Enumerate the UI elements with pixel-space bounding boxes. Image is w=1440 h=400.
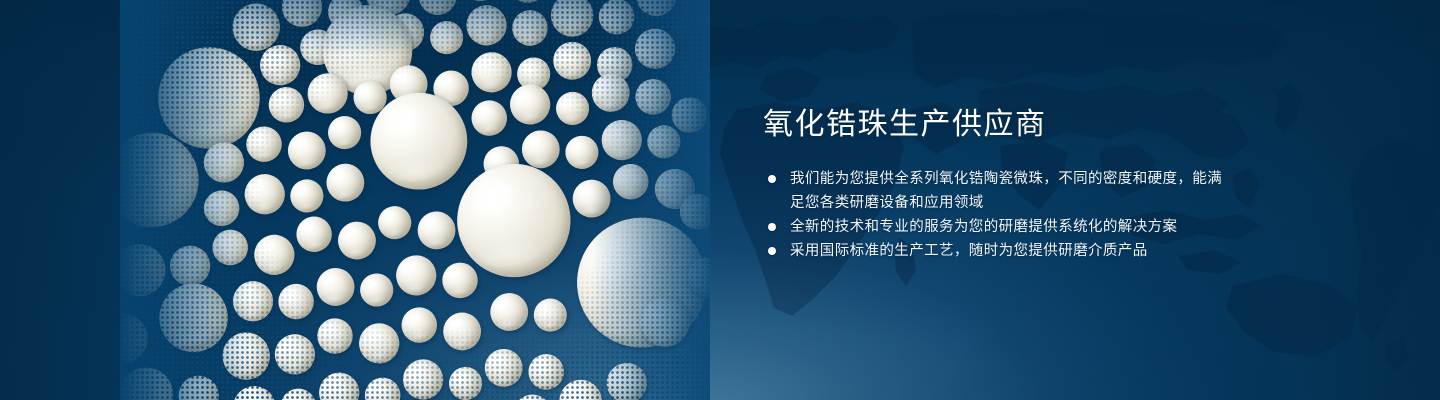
bullet-dot-icon: [768, 223, 776, 231]
zirconia-beads-photo: [120, 0, 710, 400]
list-item: 我们能为您提供全系列氧化锆陶瓷微珠，不同的密度和硬度，能满足您各类研磨设备和应用…: [763, 167, 1233, 215]
list-item-text: 全新的技术和专业的服务为您的研磨提供系统化的解决方案: [790, 219, 1177, 235]
feature-list: 我们能为您提供全系列氧化锆陶瓷微珠，不同的密度和硬度，能满足您各类研磨设备和应用…: [763, 167, 1233, 263]
list-item: 采用国际标准的生产工艺，随时为您提供研磨介质产品: [763, 239, 1233, 263]
list-item-text: 我们能为您提供全系列氧化锆陶瓷微珠，不同的密度和硬度，能满足您各类研磨设备和应用…: [790, 171, 1222, 211]
page-title: 氧化锆珠生产供应商: [763, 106, 1233, 144]
banner-copy: 氧化锆珠生产供应商 我们能为您提供全系列氧化锆陶瓷微珠，不同的密度和硬度，能满足…: [763, 106, 1233, 263]
hero-banner: 氧化锆珠生产供应商 我们能为您提供全系列氧化锆陶瓷微珠，不同的密度和硬度，能满足…: [0, 0, 1440, 400]
bullet-dot-icon: [768, 247, 776, 255]
bullet-dot-icon: [768, 175, 776, 183]
list-item-text: 采用国际标准的生产工艺，随时为您提供研磨介质产品: [790, 243, 1148, 259]
list-item: 全新的技术和专业的服务为您的研磨提供系统化的解决方案: [763, 215, 1233, 239]
photo-edge-fade: [120, 0, 710, 400]
